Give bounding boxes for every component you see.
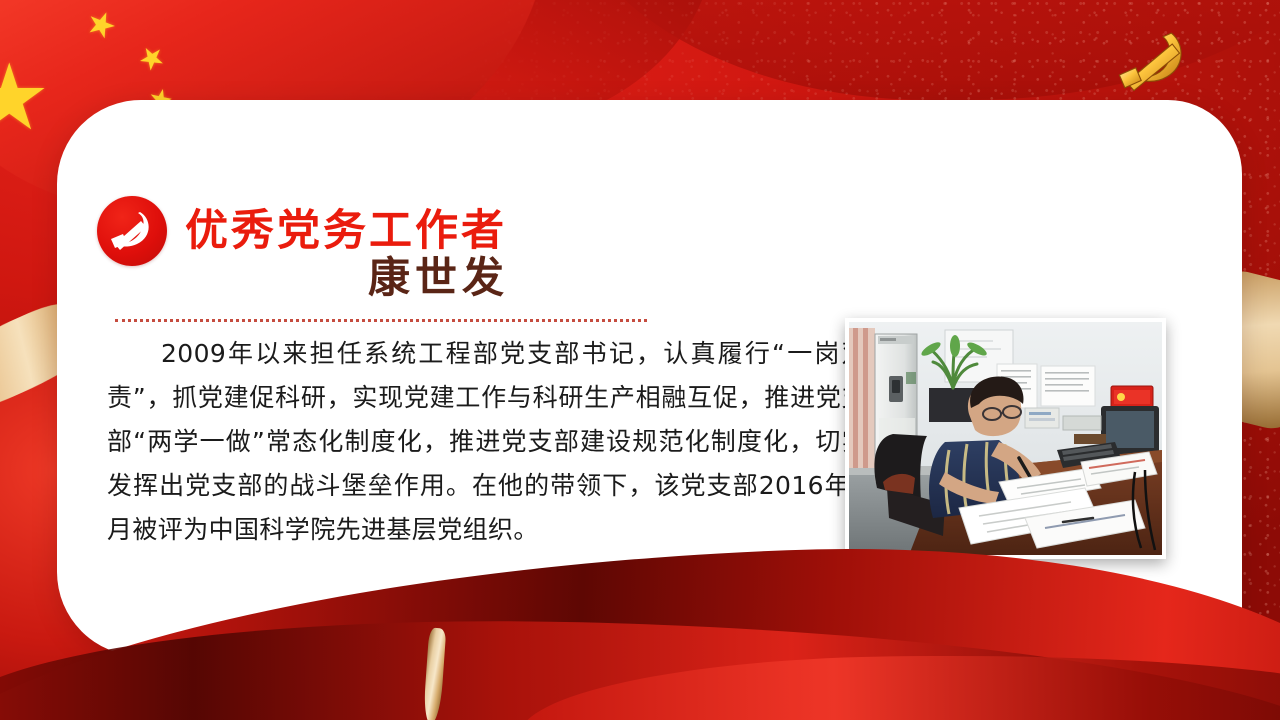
- portrait-photo: [845, 318, 1166, 559]
- flag-star-large: ★: [0, 52, 50, 144]
- description-paragraph: 2009年以来担任系统工程部党支部书记，认真履行“一岗双责”，抓党建促科研，实现…: [107, 332, 867, 552]
- party-emblem-icon: [97, 196, 167, 266]
- person-name: 康世发: [368, 258, 509, 300]
- hammer-sickle-gold-icon: [1108, 24, 1200, 106]
- page-title: 优秀党务工作者: [185, 210, 507, 253]
- dotted-divider: [115, 319, 647, 322]
- flag-star-small-2: ★: [131, 39, 171, 79]
- red-wave-bottom-front: [519, 647, 1280, 720]
- flag-star-small-1: ★: [81, 4, 122, 47]
- slide-root: ★ ★ ★ ★ ★: [0, 0, 1280, 720]
- content-card: 优秀党务工作者 康世发 2009年以来担任系统工程部党支部书记，认真履行“一岗双…: [57, 100, 1242, 656]
